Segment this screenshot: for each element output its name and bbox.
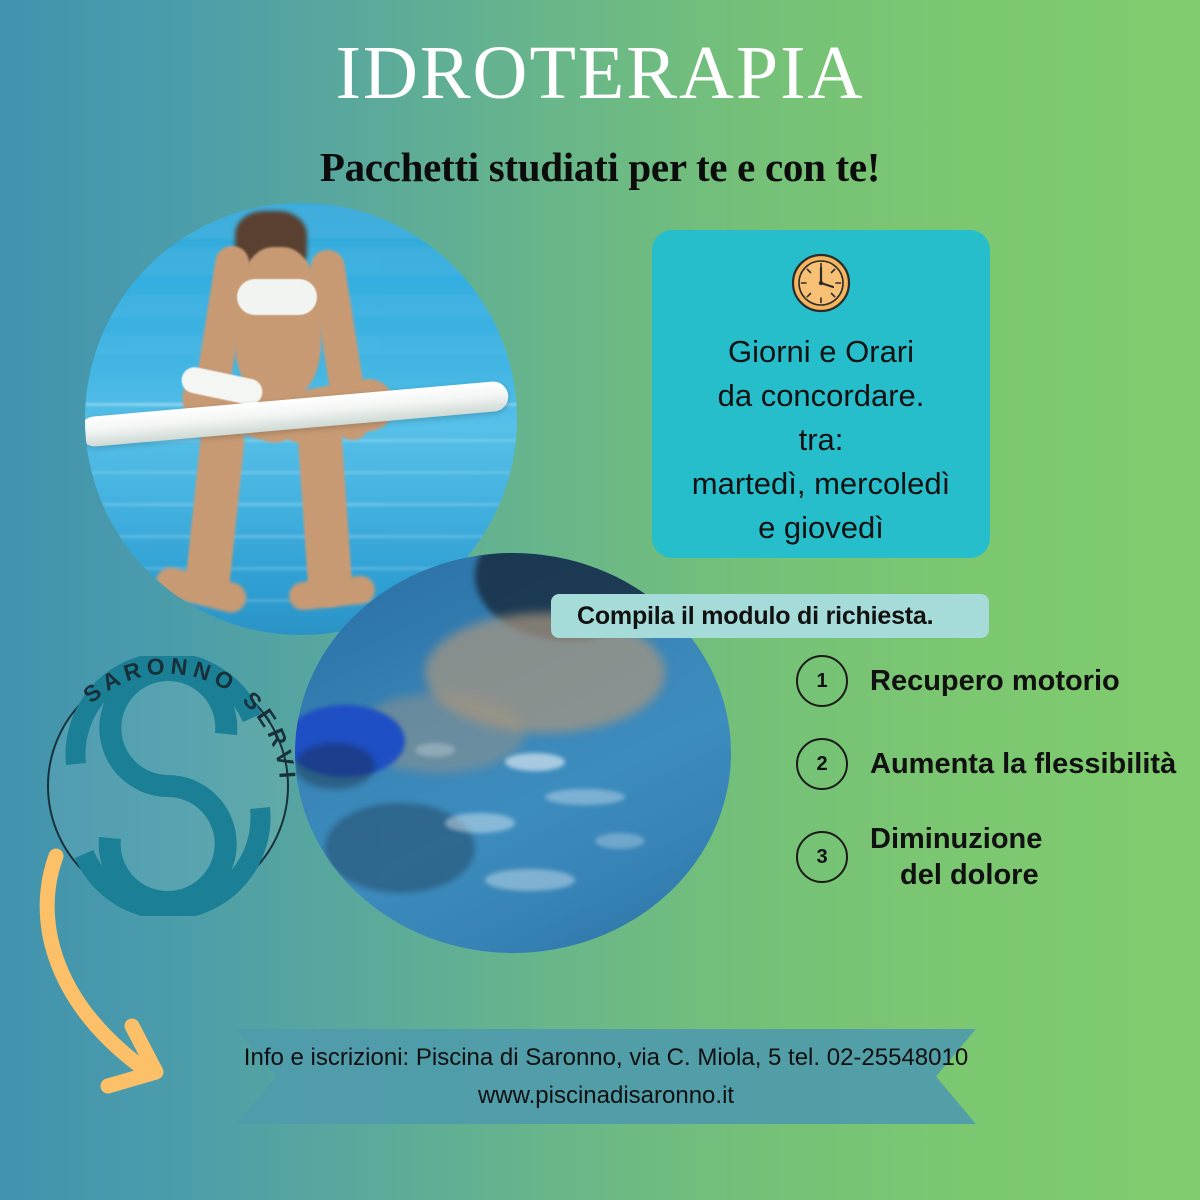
benefit-label-1: Recupero motorio xyxy=(870,663,1120,699)
info-ribbon: Info e iscrizioni: Piscina di Saronno, v… xyxy=(236,1029,976,1124)
benefit-number-3: 3 xyxy=(796,831,848,883)
schedule-line-3: tra: xyxy=(652,418,990,462)
compila-modulo-label: Compila il modulo di richiesta. xyxy=(551,602,933,631)
poster-canvas: IDROTERAPIA Pacchetti studiati per te e … xyxy=(0,0,1200,1200)
benefit-label-2: Aumenta la flessibilità xyxy=(870,746,1176,782)
schedule-text-block: Giorni e Orari da concordare. tra: marte… xyxy=(652,330,990,550)
schedule-line-1: Giorni e Orari xyxy=(652,330,990,374)
schedule-line-5: e giovedì xyxy=(652,506,990,550)
poster-subtitle: Pacchetti studiati per te e con te! xyxy=(0,143,1200,191)
info-ribbon-text: Info e iscrizioni: Piscina di Saronno, v… xyxy=(236,1029,976,1124)
benefit-number-2: 2 xyxy=(796,738,848,790)
benefit-number-1: 1 xyxy=(796,655,848,707)
compila-modulo-bar[interactable]: Compila il modulo di richiesta. xyxy=(551,594,989,638)
schedule-card: Giorni e Orari da concordare. tra: marte… xyxy=(652,230,990,558)
info-line-address: Info e iscrizioni: Piscina di Saronno, v… xyxy=(244,1039,968,1076)
clock-icon xyxy=(790,252,852,314)
benefit-item-1: 1 Recupero motorio xyxy=(796,655,1120,707)
benefit-label-3-line1: Diminuzione xyxy=(870,823,1042,855)
benefit-item-2: 2 Aumenta la flessibilità xyxy=(796,738,1176,790)
info-line-website[interactable]: www.piscinadisaronno.it xyxy=(478,1077,734,1114)
benefit-item-3: 3 Diminuzione del dolore xyxy=(796,821,1042,894)
schedule-line-2: da concordare. xyxy=(652,374,990,418)
poster-title: IDROTERAPIA xyxy=(0,34,1200,114)
benefit-label-3-line2: del dolore xyxy=(870,857,1042,893)
schedule-line-4: martedì, mercoledì xyxy=(652,462,990,506)
benefit-label-3: Diminuzione del dolore xyxy=(870,821,1042,894)
